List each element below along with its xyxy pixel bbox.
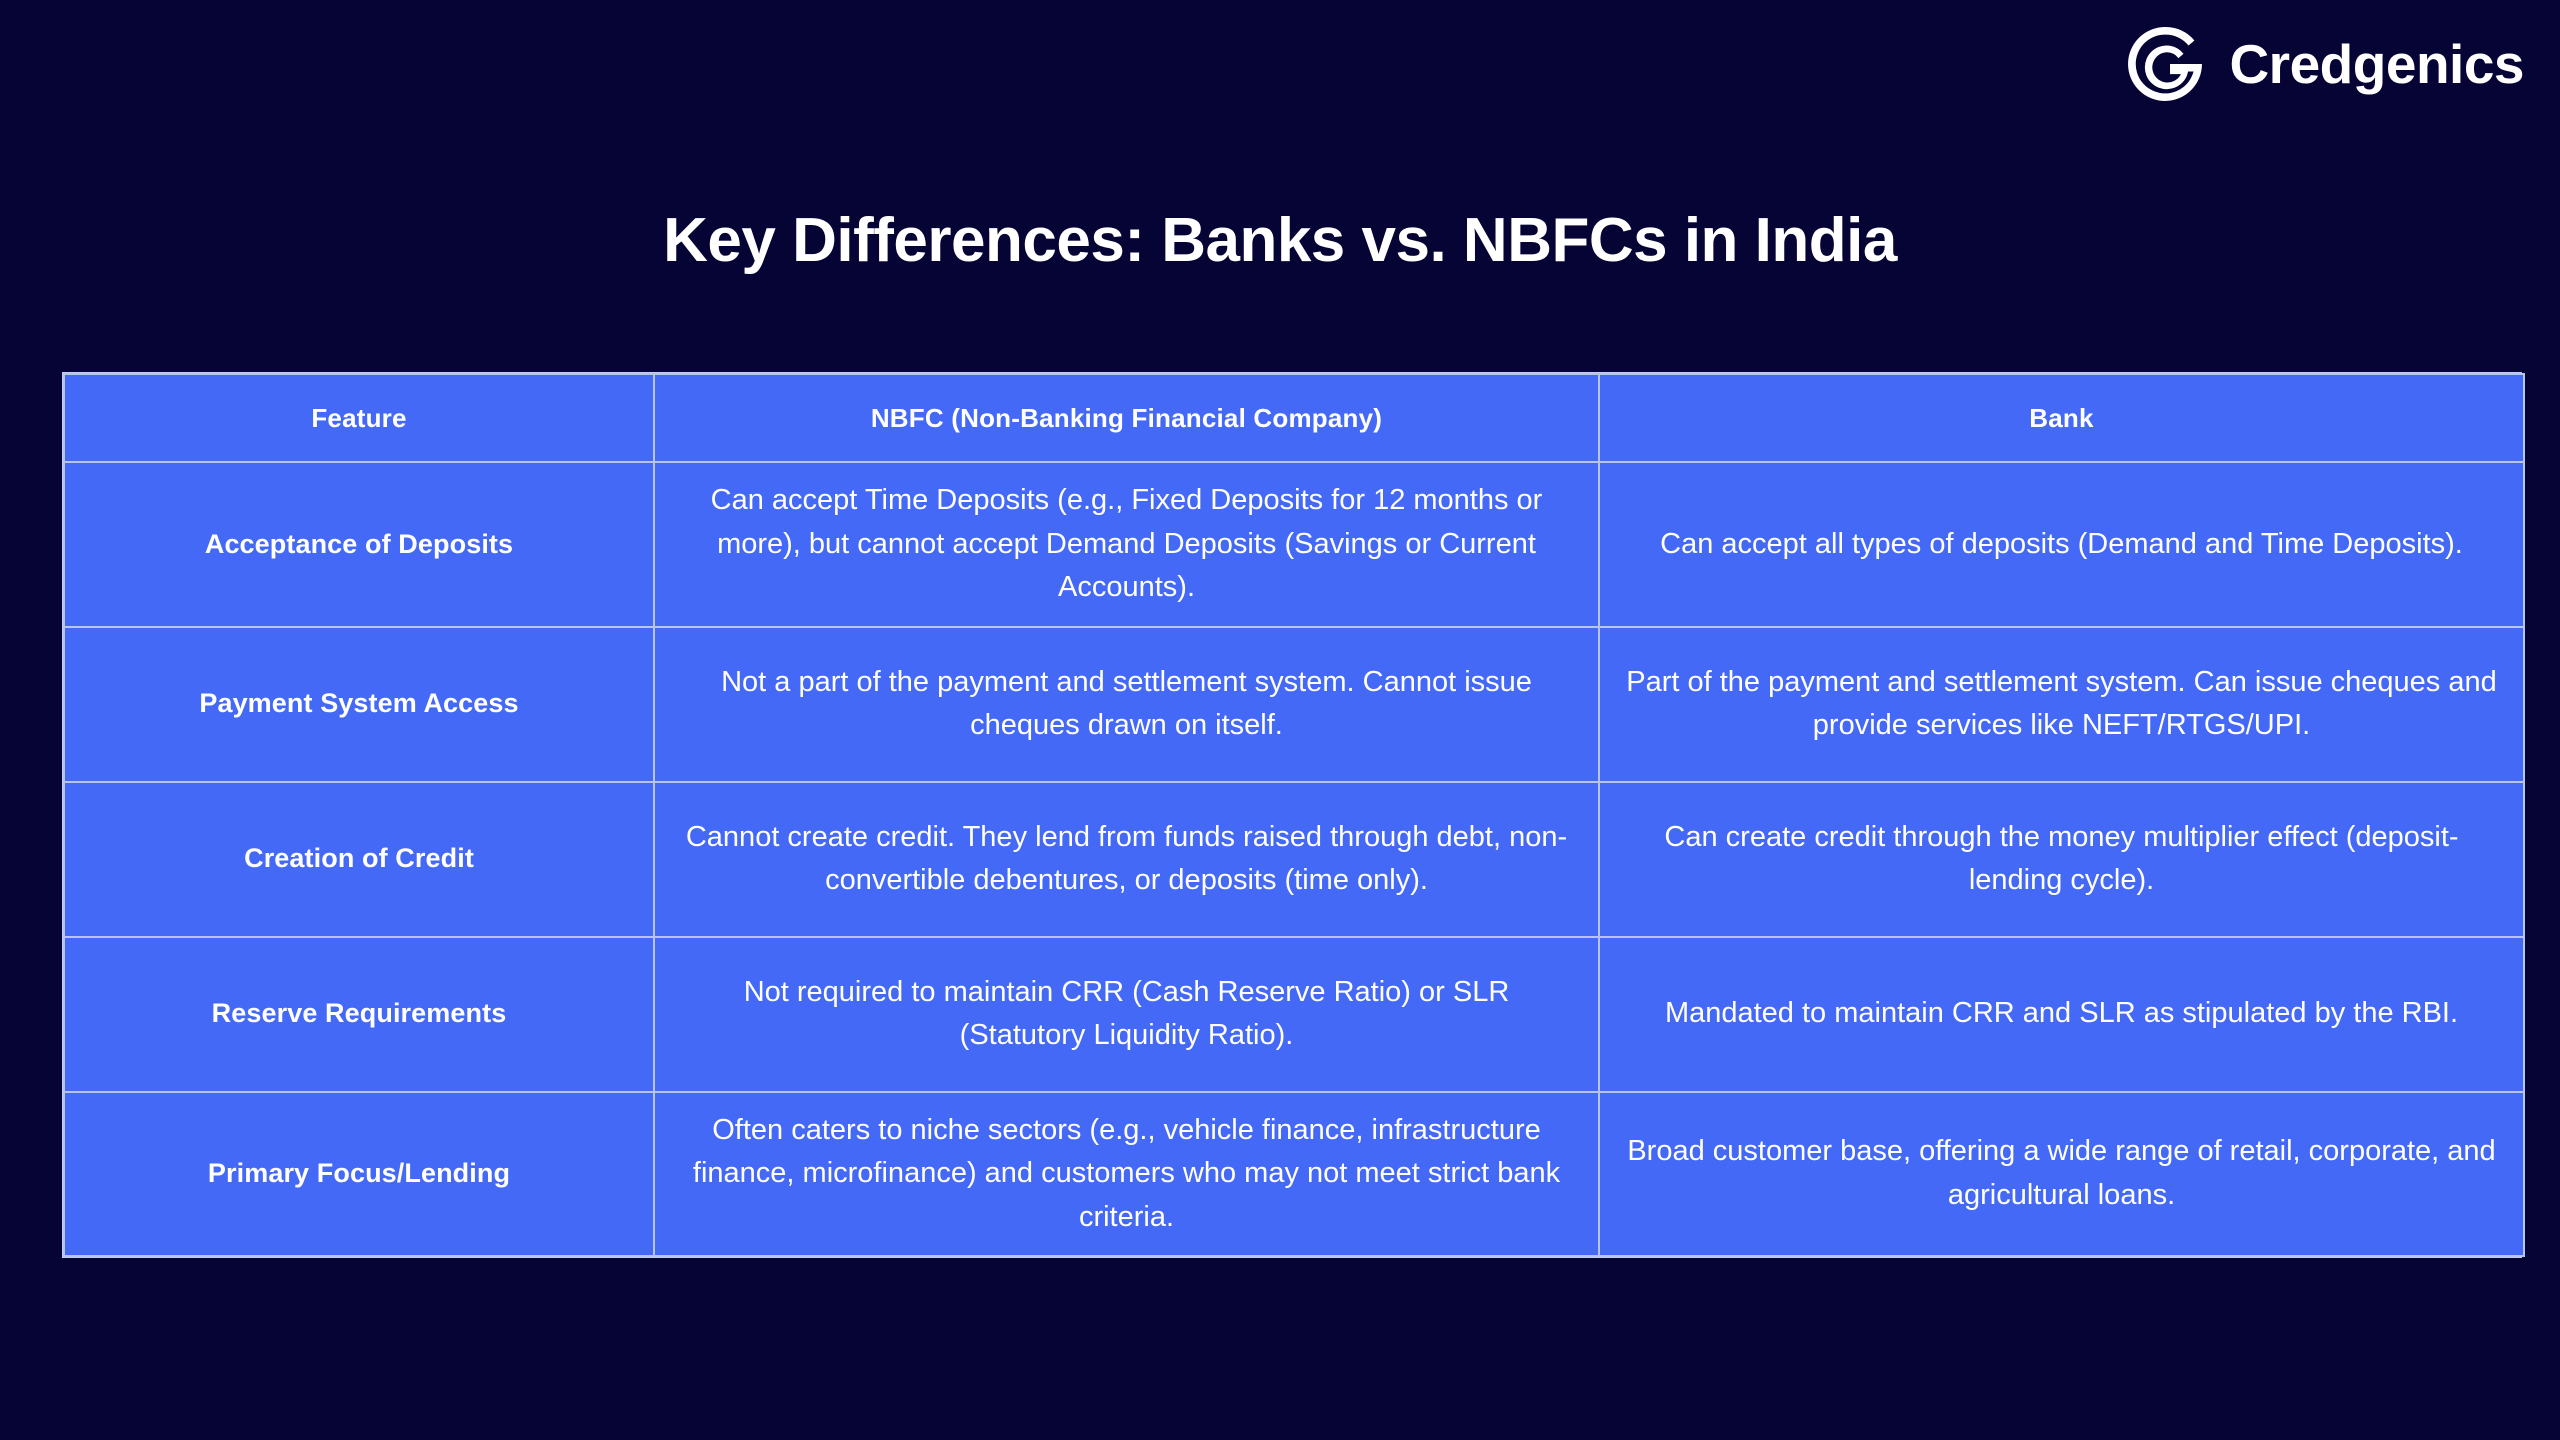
table-body: Acceptance of Deposits Can accept Time D… (64, 462, 2524, 1256)
table-row: Creation of Credit Cannot create credit.… (64, 782, 2524, 937)
feature-label: Creation of Credit (64, 782, 654, 937)
column-header-bank: Bank (1599, 374, 2524, 462)
brand-name: Credgenics (2229, 37, 2524, 92)
feature-label: Reserve Requirements (64, 937, 654, 1092)
nbfc-detail: Often caters to niche sectors (e.g., veh… (654, 1092, 1599, 1257)
feature-label: Primary Focus/Lending (64, 1092, 654, 1257)
column-header-nbfc: NBFC (Non-Banking Financial Company) (654, 374, 1599, 462)
feature-label: Acceptance of Deposits (64, 462, 654, 627)
comparison-table: Feature NBFC (Non-Banking Financial Comp… (63, 373, 2525, 1257)
table-row: Payment System Access Not a part of the … (64, 627, 2524, 782)
nbfc-detail: Can accept Time Deposits (e.g., Fixed De… (654, 462, 1599, 627)
bank-detail: Mandated to maintain CRR and SLR as stip… (1599, 937, 2524, 1092)
bank-detail: Can accept all types of deposits (Demand… (1599, 462, 2524, 627)
credgenics-g-monogram-icon (2123, 22, 2207, 106)
comparison-table-container: Feature NBFC (Non-Banking Financial Comp… (62, 372, 2522, 1258)
table-row: Acceptance of Deposits Can accept Time D… (64, 462, 2524, 627)
feature-label: Payment System Access (64, 627, 654, 782)
table-header-row: Feature NBFC (Non-Banking Financial Comp… (64, 374, 2524, 462)
column-header-feature: Feature (64, 374, 654, 462)
page-title: Key Differences: Banks vs. NBFCs in Indi… (0, 205, 2560, 276)
bank-detail: Can create credit through the money mult… (1599, 782, 2524, 937)
nbfc-detail: Cannot create credit. They lend from fun… (654, 782, 1599, 937)
bank-detail: Broad customer base, offering a wide ran… (1599, 1092, 2524, 1257)
nbfc-detail: Not required to maintain CRR (Cash Reser… (654, 937, 1599, 1092)
table-row: Primary Focus/Lending Often caters to ni… (64, 1092, 2524, 1257)
brand-lockup: Credgenics (2123, 22, 2524, 106)
table-row: Reserve Requirements Not required to mai… (64, 937, 2524, 1092)
nbfc-detail: Not a part of the payment and settlement… (654, 627, 1599, 782)
bank-detail: Part of the payment and settlement syste… (1599, 627, 2524, 782)
table-header: Feature NBFC (Non-Banking Financial Comp… (64, 374, 2524, 462)
infographic-page: Credgenics Key Differences: Banks vs. NB… (0, 0, 2560, 1440)
